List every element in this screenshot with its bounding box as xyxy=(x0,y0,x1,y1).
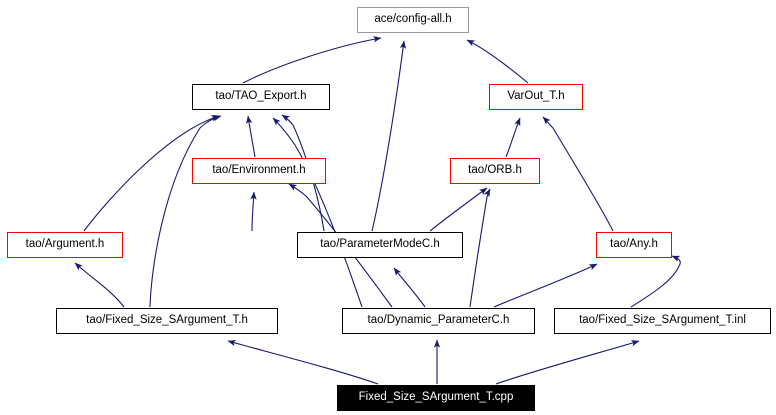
node-label: ace/config-all.h xyxy=(374,14,451,26)
node-tao-fixed-size-sargument-t-inl[interactable]: tao/Fixed_Size_SArgument_T.inl xyxy=(554,308,771,334)
edge-cpp-to-fixed-size-h xyxy=(228,341,378,384)
edge-varout-to-config-all xyxy=(467,40,528,83)
node-tao-environment[interactable]: tao/Environment.h xyxy=(192,158,326,184)
edge-environment-to-tao-export xyxy=(248,116,255,157)
node-label: tao/ORB.h xyxy=(468,165,522,177)
node-tao-any[interactable]: tao/Any.h xyxy=(596,232,672,258)
include-dependency-graph: ace/config-all.h tao/TAO_Export.h VarOut… xyxy=(0,0,776,415)
edge-dynamic-to-orb xyxy=(470,189,490,307)
edge-dynamic-to-any xyxy=(494,264,597,307)
node-label: VarOut_T.h xyxy=(507,91,564,103)
node-tao-dynamic-parameterc[interactable]: tao/Dynamic_ParameterC.h xyxy=(342,308,535,334)
edge-orb-to-varout xyxy=(506,118,520,157)
edge-fixed-size-h-to-argument xyxy=(75,263,124,307)
graph-edges xyxy=(0,0,776,415)
edge-any-to-varout xyxy=(543,117,613,231)
edge-inl-to-any xyxy=(631,256,680,307)
node-varout-t[interactable]: VarOut_T.h xyxy=(489,84,583,110)
node-tao-fixed-size-sargument-t-h[interactable]: tao/Fixed_Size_SArgument_T.h xyxy=(56,308,278,334)
edge-parametermodec-to-environment xyxy=(252,192,254,231)
node-tao-argument[interactable]: tao/Argument.h xyxy=(7,232,123,258)
node-ace-config-all[interactable]: ace/config-all.h xyxy=(357,7,469,33)
edge-parametermodec-to-config-all xyxy=(372,41,404,231)
node-tao-orb[interactable]: tao/ORB.h xyxy=(450,158,540,184)
edge-parametermodec-to-orb xyxy=(430,188,487,231)
node-label: tao/Fixed_Size_SArgument_T.inl xyxy=(579,315,746,327)
node-label: Fixed_Size_SArgument_T.cpp xyxy=(359,392,514,404)
edge-dynamic-to-tao-export xyxy=(273,118,362,307)
node-label: tao/Argument.h xyxy=(26,239,105,251)
node-label: tao/Fixed_Size_SArgument_T.h xyxy=(86,315,248,327)
edge-cpp-to-inl xyxy=(496,341,639,384)
edge-fixed-size-h-to-tao-export xyxy=(150,116,221,307)
node-label: tao/Environment.h xyxy=(212,165,305,177)
node-label: tao/Any.h xyxy=(610,239,658,251)
node-tao-tao-export[interactable]: tao/TAO_Export.h xyxy=(192,84,330,110)
node-label: tao/Dynamic_ParameterC.h xyxy=(368,315,510,327)
edge-dynamic-to-parametermodec xyxy=(394,268,425,307)
node-tao-parametermodec[interactable]: tao/ParameterModeC.h xyxy=(297,232,463,258)
node-fixed-size-sargument-t-cpp[interactable]: Fixed_Size_SArgument_T.cpp xyxy=(337,385,535,411)
node-label: tao/TAO_Export.h xyxy=(215,91,306,103)
node-label: tao/ParameterModeC.h xyxy=(320,239,440,251)
edge-tao-export-to-config-all xyxy=(243,38,381,83)
